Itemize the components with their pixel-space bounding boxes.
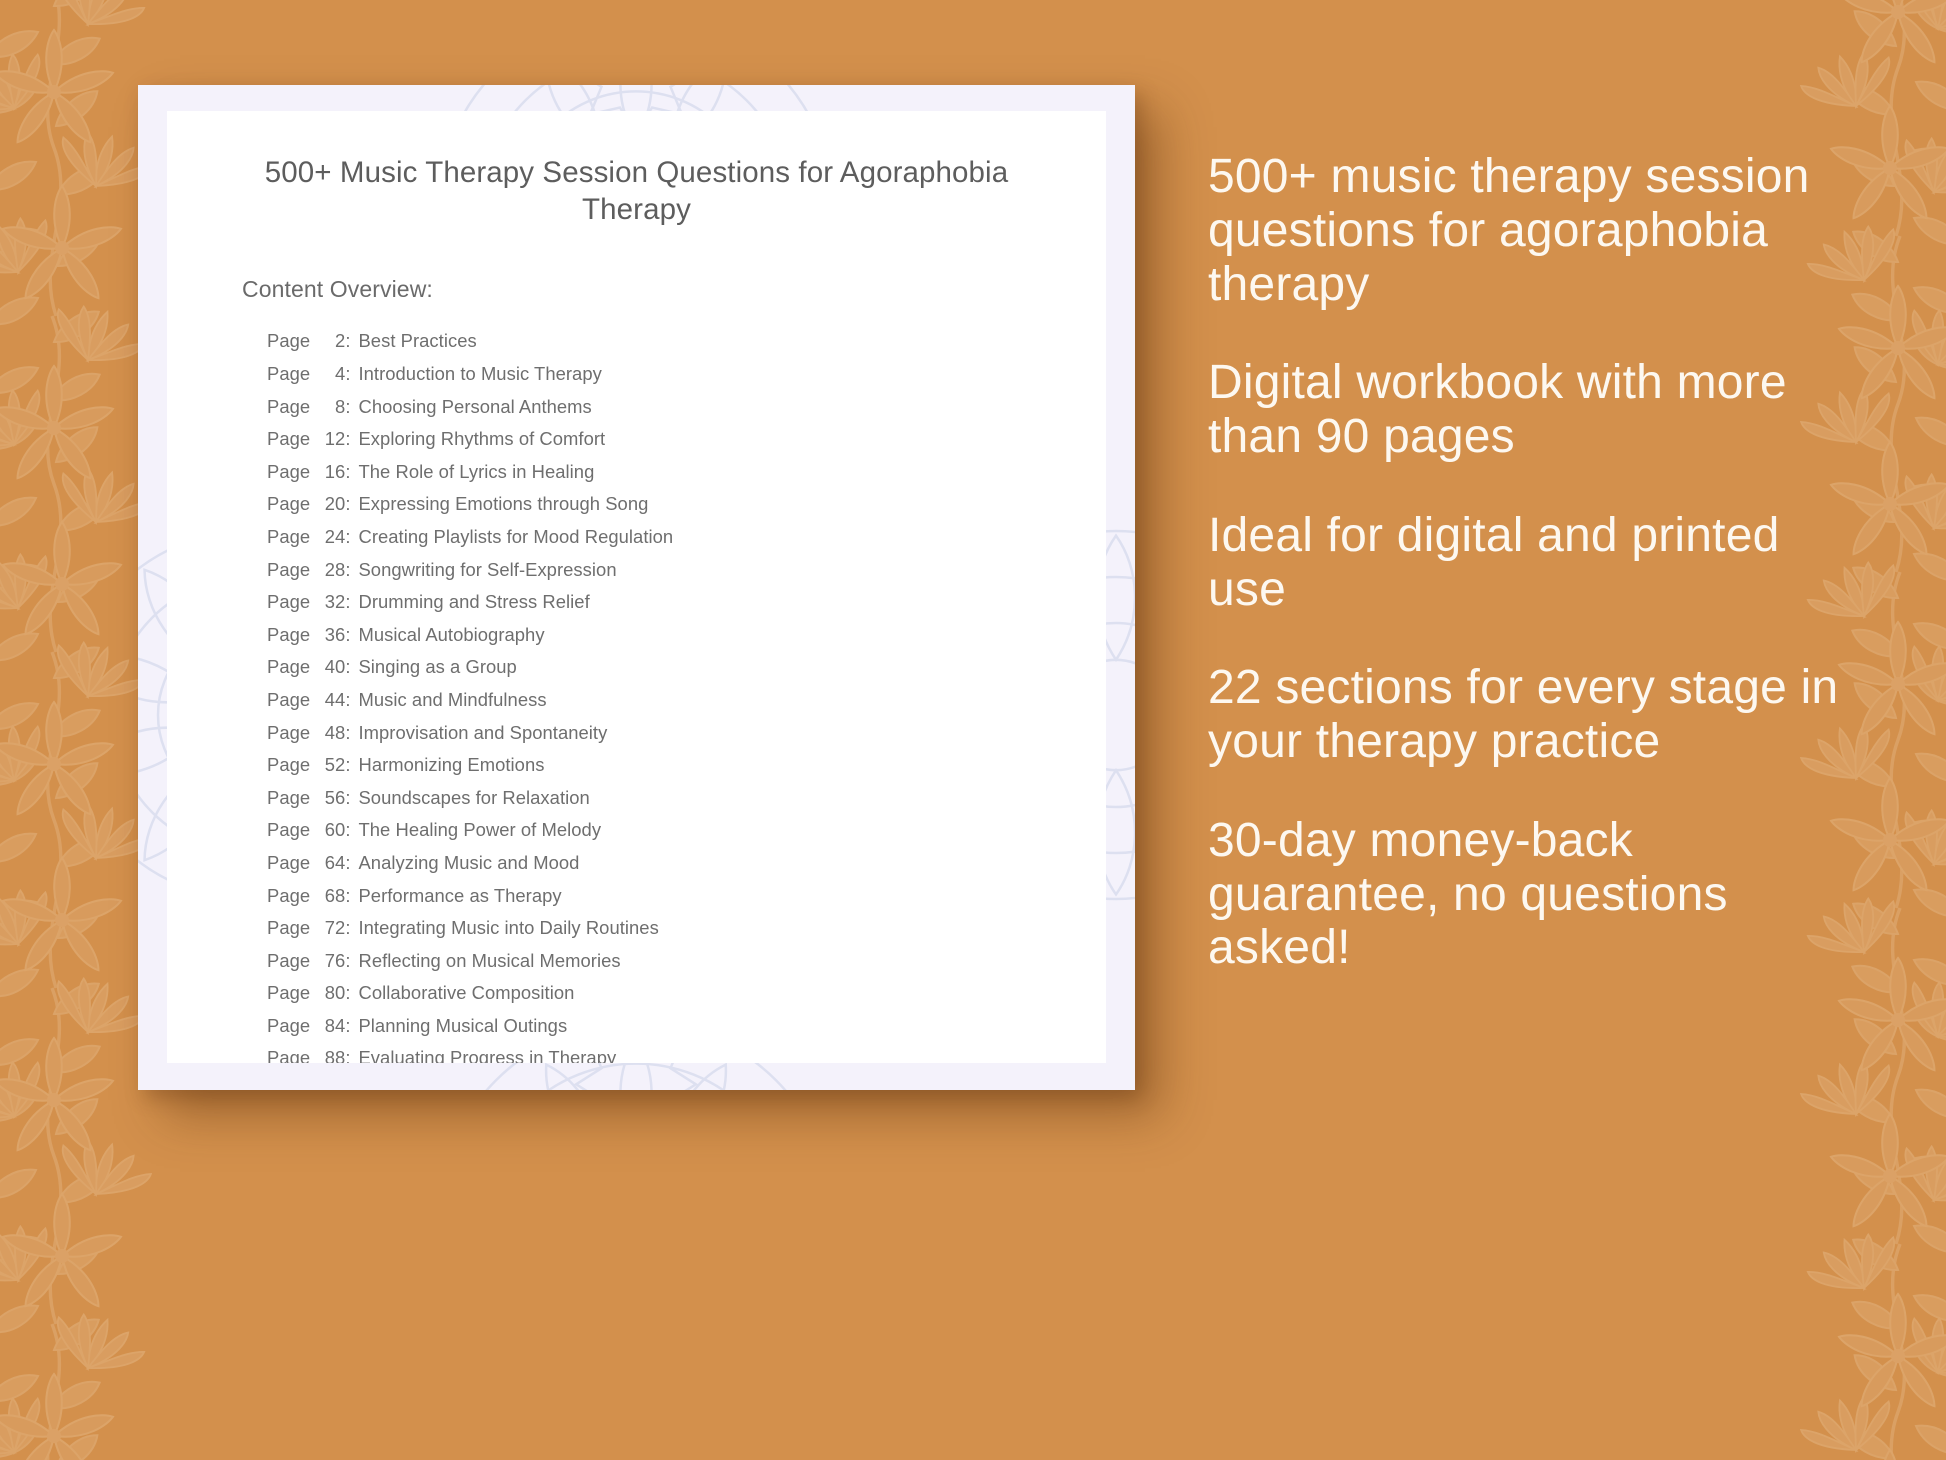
- toc-entry-label: Page: [267, 952, 315, 970]
- toc-entry: Page 64:Analyzing Music and Mood: [267, 847, 1106, 880]
- toc-entry-separator: :: [345, 430, 358, 448]
- toc-entry-title: Creating Playlists for Mood Regulation: [358, 528, 673, 546]
- toc-entry: Page 32:Drumming and Stress Relief: [267, 586, 1106, 619]
- toc-entry-title: Analyzing Music and Mood: [358, 854, 579, 872]
- toc-entry-page-number: 48: [315, 724, 345, 742]
- toc-entry-page-number: 8: [315, 398, 345, 416]
- toc-entry-title: Drumming and Stress Relief: [358, 593, 589, 611]
- toc-entry-label: Page: [267, 398, 315, 416]
- toc-entry-separator: :: [345, 919, 358, 937]
- marketing-line: 30-day money-back guarantee, no question…: [1208, 814, 1848, 975]
- toc-entry-title: Soundscapes for Relaxation: [358, 789, 589, 807]
- toc-entry-page-number: 16: [315, 463, 345, 481]
- toc-entry-label: Page: [267, 919, 315, 937]
- toc-entry-page-number: 2: [315, 332, 345, 350]
- toc-entry-label: Page: [267, 561, 315, 579]
- toc-entry-label: Page: [267, 593, 315, 611]
- toc-entry-title: Integrating Music into Daily Routines: [358, 919, 658, 937]
- toc-entry: Page 48:Improvisation and Spontaneity: [267, 716, 1106, 749]
- toc-entry-page-number: 44: [315, 691, 345, 709]
- toc-entry-page-number: 84: [315, 1017, 345, 1035]
- toc-entry: Page 76:Reflecting on Musical Memories: [267, 945, 1106, 978]
- toc-entry-label: Page: [267, 691, 315, 709]
- document-mat: 500+ Music Therapy Session Questions for…: [138, 85, 1135, 1090]
- toc-entry-label: Page: [267, 789, 315, 807]
- toc-entry-page-number: 56: [315, 789, 345, 807]
- toc-entry-separator: :: [345, 495, 358, 513]
- toc-entry-title: The Role of Lyrics in Healing: [358, 463, 594, 481]
- toc-entry-page-number: 28: [315, 561, 345, 579]
- content-overview-heading: Content Overview:: [242, 276, 1106, 303]
- toc-entry-page-number: 64: [315, 854, 345, 872]
- toc-entry-separator: :: [345, 1017, 358, 1035]
- toc-entry: Page 56:Soundscapes for Relaxation: [267, 782, 1106, 815]
- toc-entry: Page 72:Integrating Music into Daily Rou…: [267, 912, 1106, 945]
- toc-entry: Page 52:Harmonizing Emotions: [267, 749, 1106, 782]
- toc-entry-title: Songwriting for Self-Expression: [358, 561, 616, 579]
- toc-entry-page-number: 76: [315, 952, 345, 970]
- toc-entry-separator: :: [345, 984, 358, 1002]
- toc-entry-separator: :: [345, 626, 358, 644]
- toc-entry-page-number: 88: [315, 1049, 345, 1063]
- toc-entry-title: Improvisation and Spontaneity: [358, 724, 607, 742]
- toc-entry-separator: :: [345, 1049, 358, 1063]
- toc-entry-label: Page: [267, 626, 315, 644]
- toc-entry-separator: :: [345, 528, 358, 546]
- toc-entry-title: Exploring Rhythms of Comfort: [358, 430, 605, 448]
- toc-entry-page-number: 80: [315, 984, 345, 1002]
- toc-entry-label: Page: [267, 854, 315, 872]
- toc-entry-page-number: 32: [315, 593, 345, 611]
- toc-entry: Page 84:Planning Musical Outings: [267, 1010, 1106, 1043]
- document-mockup: 500+ Music Therapy Session Questions for…: [138, 85, 1135, 1090]
- toc-entry: Page 12:Exploring Rhythms of Comfort: [267, 423, 1106, 456]
- toc-entry-title: Music and Mindfulness: [358, 691, 546, 709]
- document-page: 500+ Music Therapy Session Questions for…: [167, 111, 1106, 1063]
- table-of-contents: Page 2:Best PracticesPage 4:Introduction…: [267, 325, 1106, 1063]
- toc-entry-separator: :: [345, 561, 358, 579]
- toc-entry: Page 16:The Role of Lyrics in Healing: [267, 456, 1106, 489]
- toc-entry-separator: :: [345, 724, 358, 742]
- toc-entry-title: Musical Autobiography: [358, 626, 544, 644]
- marketing-line: Ideal for digital and printed use: [1208, 509, 1848, 617]
- toc-entry-label: Page: [267, 463, 315, 481]
- toc-entry-page-number: 52: [315, 756, 345, 774]
- toc-entry-title: Harmonizing Emotions: [358, 756, 544, 774]
- toc-entry: Page 28:Songwriting for Self-Expression: [267, 553, 1106, 586]
- toc-entry: Page 36:Musical Autobiography: [267, 619, 1106, 652]
- toc-entry: Page 24:Creating Playlists for Mood Regu…: [267, 521, 1106, 554]
- toc-entry-label: Page: [267, 984, 315, 1002]
- toc-entry-separator: :: [345, 821, 358, 839]
- toc-entry-label: Page: [267, 430, 315, 448]
- marketing-line: 500+ music therapy session questions for…: [1208, 150, 1848, 311]
- toc-entry-separator: :: [345, 365, 358, 383]
- toc-entry-title: Collaborative Composition: [358, 984, 574, 1002]
- toc-entry: Page 4:Introduction to Music Therapy: [267, 358, 1106, 391]
- toc-entry-label: Page: [267, 658, 315, 676]
- toc-entry-label: Page: [267, 887, 315, 905]
- toc-entry-separator: :: [345, 756, 358, 774]
- toc-entry-label: Page: [267, 1017, 315, 1035]
- toc-entry-separator: :: [345, 463, 358, 481]
- toc-entry-label: Page: [267, 528, 315, 546]
- toc-entry-page-number: 12: [315, 430, 345, 448]
- page-title: 500+ Music Therapy Session Questions for…: [243, 154, 1030, 228]
- toc-entry-separator: :: [345, 854, 358, 872]
- toc-entry: Page 68:Performance as Therapy: [267, 879, 1106, 912]
- toc-entry: Page 2:Best Practices: [267, 325, 1106, 358]
- toc-entry-label: Page: [267, 1049, 315, 1063]
- marketing-line: Digital workbook with more than 90 pages: [1208, 356, 1848, 464]
- toc-entry: Page 40:Singing as a Group: [267, 651, 1106, 684]
- toc-entry-title: Singing as a Group: [358, 658, 516, 676]
- toc-entry-label: Page: [267, 495, 315, 513]
- toc-entry-title: Best Practices: [358, 332, 476, 350]
- toc-entry-page-number: 20: [315, 495, 345, 513]
- toc-entry-title: Expressing Emotions through Song: [358, 495, 648, 513]
- toc-entry: Page 88:Evaluating Progress in Therapy: [267, 1042, 1106, 1063]
- marketing-copy: 500+ music therapy session questions for…: [1208, 150, 1848, 975]
- toc-entry-separator: :: [345, 691, 358, 709]
- toc-entry-page-number: 36: [315, 626, 345, 644]
- toc-entry-separator: :: [345, 952, 358, 970]
- toc-entry-page-number: 4: [315, 365, 345, 383]
- marketing-line: 22 sections for every stage in your ther…: [1208, 661, 1848, 769]
- toc-entry-page-number: 60: [315, 821, 345, 839]
- toc-entry-title: The Healing Power of Melody: [358, 821, 601, 839]
- toc-entry-label: Page: [267, 756, 315, 774]
- toc-entry: Page 80:Collaborative Composition: [267, 977, 1106, 1010]
- toc-entry-page-number: 40: [315, 658, 345, 676]
- toc-entry-title: Choosing Personal Anthems: [358, 398, 591, 416]
- toc-entry-separator: :: [345, 789, 358, 807]
- toc-entry-label: Page: [267, 821, 315, 839]
- toc-entry-separator: :: [345, 887, 358, 905]
- toc-entry-label: Page: [267, 724, 315, 742]
- toc-entry-page-number: 72: [315, 919, 345, 937]
- toc-entry-title: Performance as Therapy: [358, 887, 561, 905]
- toc-entry-separator: :: [345, 332, 358, 350]
- toc-entry-separator: :: [345, 398, 358, 416]
- toc-entry-title: Planning Musical Outings: [358, 1017, 567, 1035]
- toc-entry: Page 8:Choosing Personal Anthems: [267, 391, 1106, 424]
- toc-entry-label: Page: [267, 332, 315, 350]
- toc-entry: Page 60:The Healing Power of Melody: [267, 814, 1106, 847]
- toc-entry-page-number: 24: [315, 528, 345, 546]
- toc-entry-title: Introduction to Music Therapy: [358, 365, 601, 383]
- toc-entry-page-number: 68: [315, 887, 345, 905]
- toc-entry-separator: :: [345, 658, 358, 676]
- toc-entry: Page 44:Music and Mindfulness: [267, 684, 1106, 717]
- toc-entry-label: Page: [267, 365, 315, 383]
- toc-entry: Page 20:Expressing Emotions through Song: [267, 488, 1106, 521]
- toc-entry-title: Evaluating Progress in Therapy: [358, 1049, 616, 1063]
- toc-entry-title: Reflecting on Musical Memories: [358, 952, 620, 970]
- toc-entry-separator: :: [345, 593, 358, 611]
